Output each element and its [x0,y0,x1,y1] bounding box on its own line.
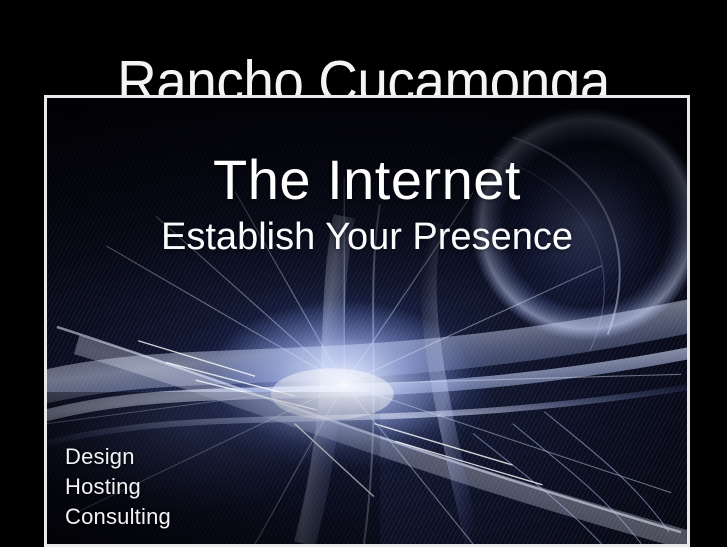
slide-image-frame: The Internet Establish Your Presence Des… [44,95,690,547]
slide-heading: The Internet [47,150,687,210]
service-item-consulting: Consulting [65,502,171,532]
service-item-design: Design [65,442,171,472]
slide-subheading: Establish Your Presence [47,216,687,258]
service-list: Design Hosting Consulting [65,442,171,532]
service-item-hosting: Hosting [65,472,171,502]
